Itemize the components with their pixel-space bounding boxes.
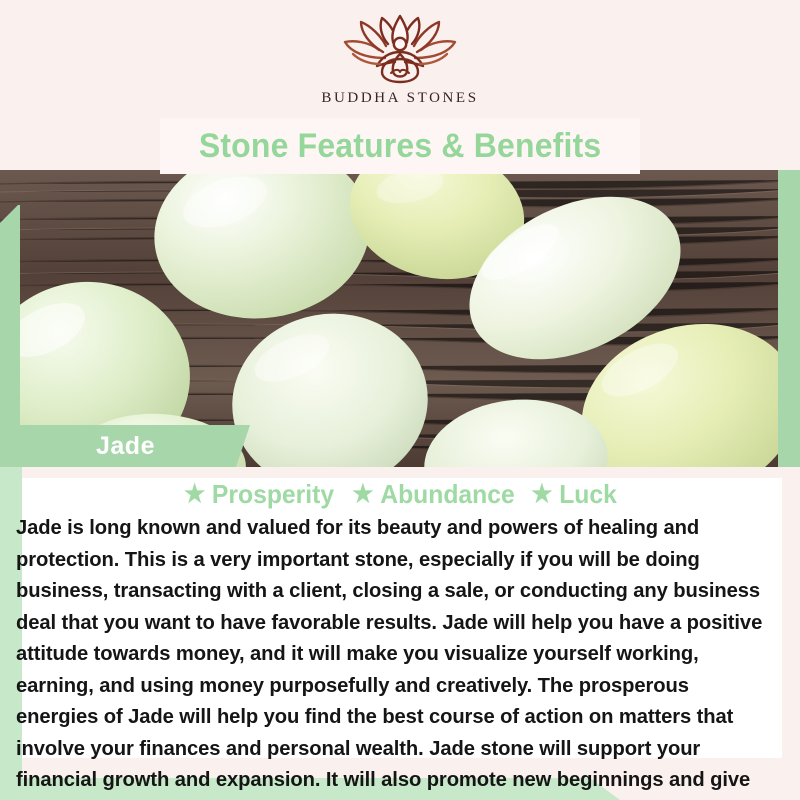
keyword-prosperity-label: Prosperity bbox=[212, 479, 334, 510]
section-title-band: Stone Features & Benefits bbox=[160, 118, 640, 174]
lotus-meditating-figure-icon bbox=[325, 14, 475, 86]
keyword-prosperity: ★ Prosperity bbox=[184, 479, 334, 510]
stone-info-card: BUDDHA STONES bbox=[0, 0, 800, 800]
keyword-abundance-label: Abundance bbox=[381, 479, 515, 510]
keyword-list: ★ Prosperity ★ Abundance ★ Luck bbox=[0, 478, 800, 510]
keyword-abundance: ★ Abundance bbox=[353, 479, 515, 510]
keyword-luck-label: Luck bbox=[560, 479, 618, 510]
stone-name: Jade bbox=[96, 432, 155, 461]
brand-name: BUDDHA STONES bbox=[321, 90, 478, 107]
page-title: Stone Features & Benefits bbox=[199, 127, 602, 166]
star-icon: ★ bbox=[532, 482, 553, 507]
brand-logo: BUDDHA STONES bbox=[321, 14, 478, 107]
stone-name-badge: Jade bbox=[0, 425, 250, 467]
star-icon: ★ bbox=[353, 482, 374, 507]
stone-description: Jade is long known and valued for its be… bbox=[16, 512, 776, 800]
keyword-luck: ★ Luck bbox=[532, 479, 618, 510]
star-icon: ★ bbox=[184, 482, 205, 507]
